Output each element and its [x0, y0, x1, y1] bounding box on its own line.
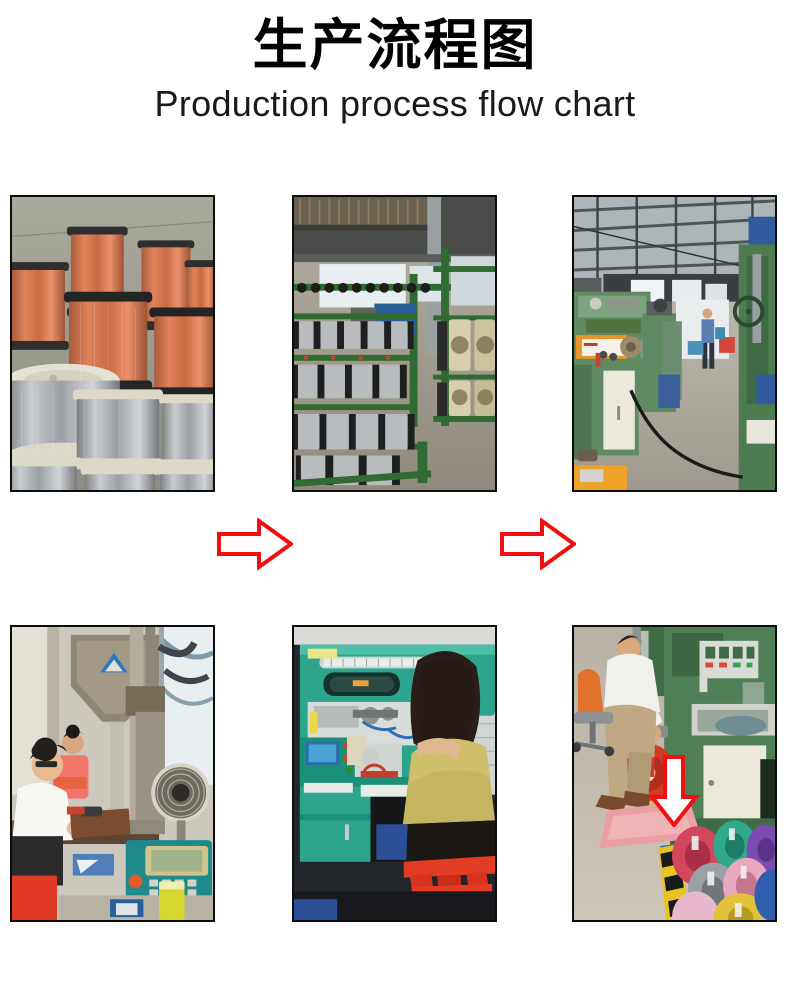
- photo-molding: [10, 625, 215, 922]
- flowchart-page: 生产流程图 Production process flow chart: [0, 0, 790, 988]
- photo-covering-insulation: [572, 195, 777, 492]
- page-title-chinese: 生产流程图: [252, 14, 537, 77]
- arrow-down-insulation-to-packing: [648, 755, 700, 827]
- arrow-right-stranding-to-insulation: [500, 518, 576, 570]
- photo-striping-cutting: [292, 625, 497, 922]
- step-covering-insulation[interactable]: 绝缘覆盖 Covering insulation: [572, 195, 777, 492]
- photo-conductor-stranding: [292, 195, 497, 492]
- photo-materials: [10, 195, 215, 492]
- arrow-right-materials-to-stranding: [217, 518, 293, 570]
- step-materials[interactable]: 原材料 Materials: [10, 195, 215, 492]
- step-striping-cutting[interactable]: 拨线和裁线 striping and cutting wires: [292, 625, 497, 922]
- process-grid: 原材料 Materials: [0, 195, 790, 922]
- page-title-english: Production process flow chart: [155, 83, 636, 125]
- step-conductor-stranding[interactable]: 导体绞合 Conductor stranding: [292, 195, 497, 492]
- step-molding[interactable]: 成型 Molding: [10, 625, 215, 922]
- process-row-top: 原材料 Materials: [0, 195, 790, 492]
- page-header: 生产流程图 Production process flow chart: [0, 0, 790, 178]
